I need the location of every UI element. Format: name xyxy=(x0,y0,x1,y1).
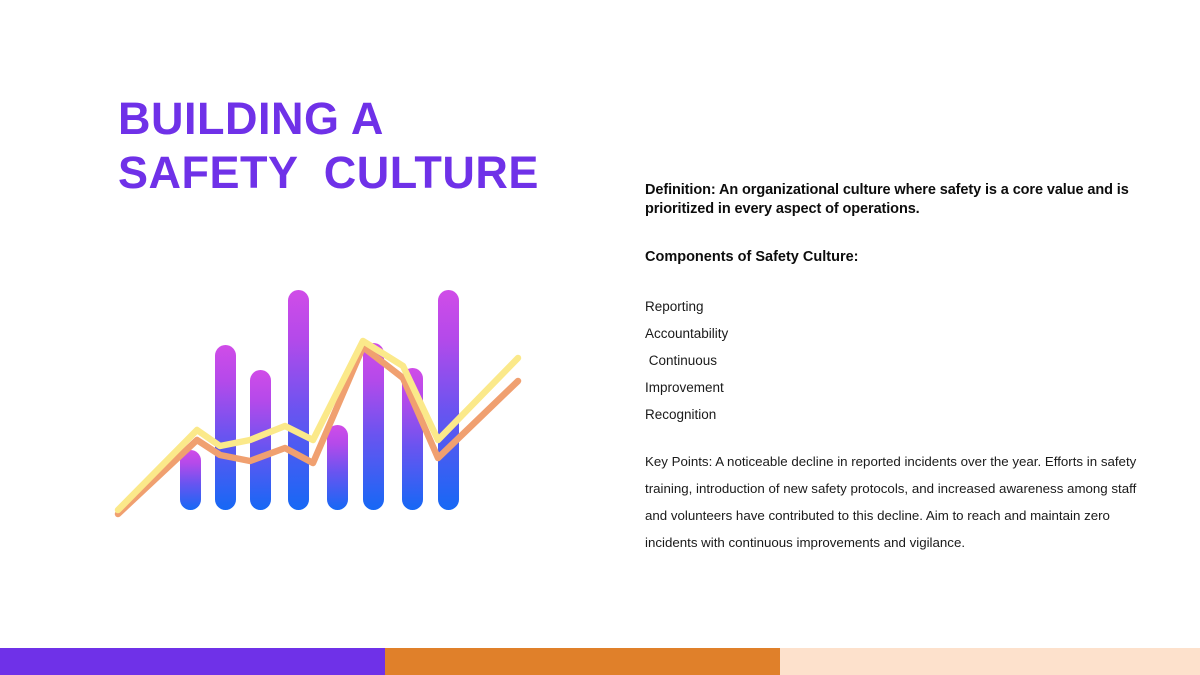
bar-2 xyxy=(215,345,236,510)
chart-svg xyxy=(60,248,560,553)
list-item: Recognition xyxy=(645,401,1145,428)
bar-5 xyxy=(327,425,348,510)
bar-6 xyxy=(363,343,384,510)
band-segment-purple xyxy=(0,648,385,675)
list-item: Improvement xyxy=(645,374,1145,401)
bar-4 xyxy=(288,290,309,510)
band-segment-orange xyxy=(385,648,780,675)
slide-canvas: BUILDING A SAFETY CULTURE xyxy=(0,0,1200,675)
bottom-color-band xyxy=(0,648,1200,675)
list-item: Continuous xyxy=(645,347,1145,374)
bar-8 xyxy=(438,290,459,510)
title-line-2: SAFETY CULTURE xyxy=(118,146,638,200)
band-segment-peach xyxy=(780,648,1200,675)
list-item: Reporting xyxy=(645,293,1145,320)
content-column: Definition: An organizational culture wh… xyxy=(645,181,1145,556)
page-title: BUILDING A SAFETY CULTURE xyxy=(118,92,638,200)
bar-1 xyxy=(180,450,201,510)
key-points-text: Key Points: A noticeable decline in repo… xyxy=(645,448,1137,556)
safety-incidents-chart xyxy=(60,248,560,553)
components-heading: Components of Safety Culture: xyxy=(645,248,1145,267)
definition-text: Definition: An organizational culture wh… xyxy=(645,181,1145,219)
title-line-1: BUILDING A xyxy=(118,92,638,146)
components-list: Reporting Accountability Continuous Impr… xyxy=(645,293,1145,428)
list-item: Accountability xyxy=(645,320,1145,347)
